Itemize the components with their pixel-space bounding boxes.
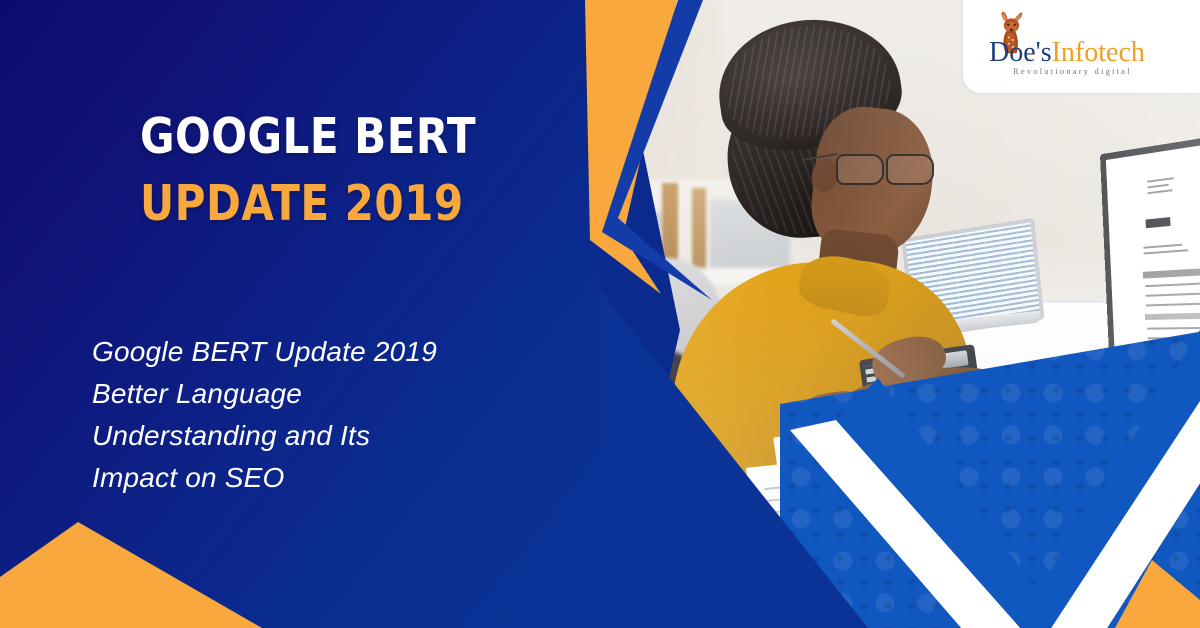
logo-tagline: Revolutionary digital (1013, 66, 1188, 76)
promo-banner: GOOGLE BERT UPDATE 2019 Google BERT Upda… (0, 0, 1200, 628)
glasses-lens-right (886, 154, 934, 185)
subtitle-line-4: Impact on SEO (92, 457, 532, 499)
subtitle-line-3: Understanding and Its (92, 415, 532, 457)
glasses-lens-left (836, 154, 884, 185)
headline: GOOGLE BERT UPDATE 2019 (140, 103, 531, 237)
subtitle-line-1: Google BERT Update 2019 (92, 331, 532, 373)
headline-line-1: GOOGLE BERT (140, 103, 476, 170)
subtitle: Google BERT Update 2019 Better Language … (92, 331, 532, 499)
logo-name-primary: Doe's (989, 37, 1052, 68)
blue-wedge-bottom (600, 290, 900, 628)
blue-chevron (600, 0, 820, 320)
logo[interactable]: Doe'sInfotech Revolutionary digital (989, 16, 1181, 78)
glasses-icon (836, 150, 932, 184)
orange-triangle-bottom-right (1115, 555, 1200, 628)
subtitle-line-2: Better Language (92, 373, 532, 415)
logo-name-secondary: Infotech (1052, 37, 1145, 68)
orange-triangle-bottom-left (0, 495, 280, 628)
headline-line-2: UPDATE 2019 (140, 170, 476, 237)
logo-card[interactable]: Doe'sInfotech Revolutionary digital (963, 0, 1200, 93)
